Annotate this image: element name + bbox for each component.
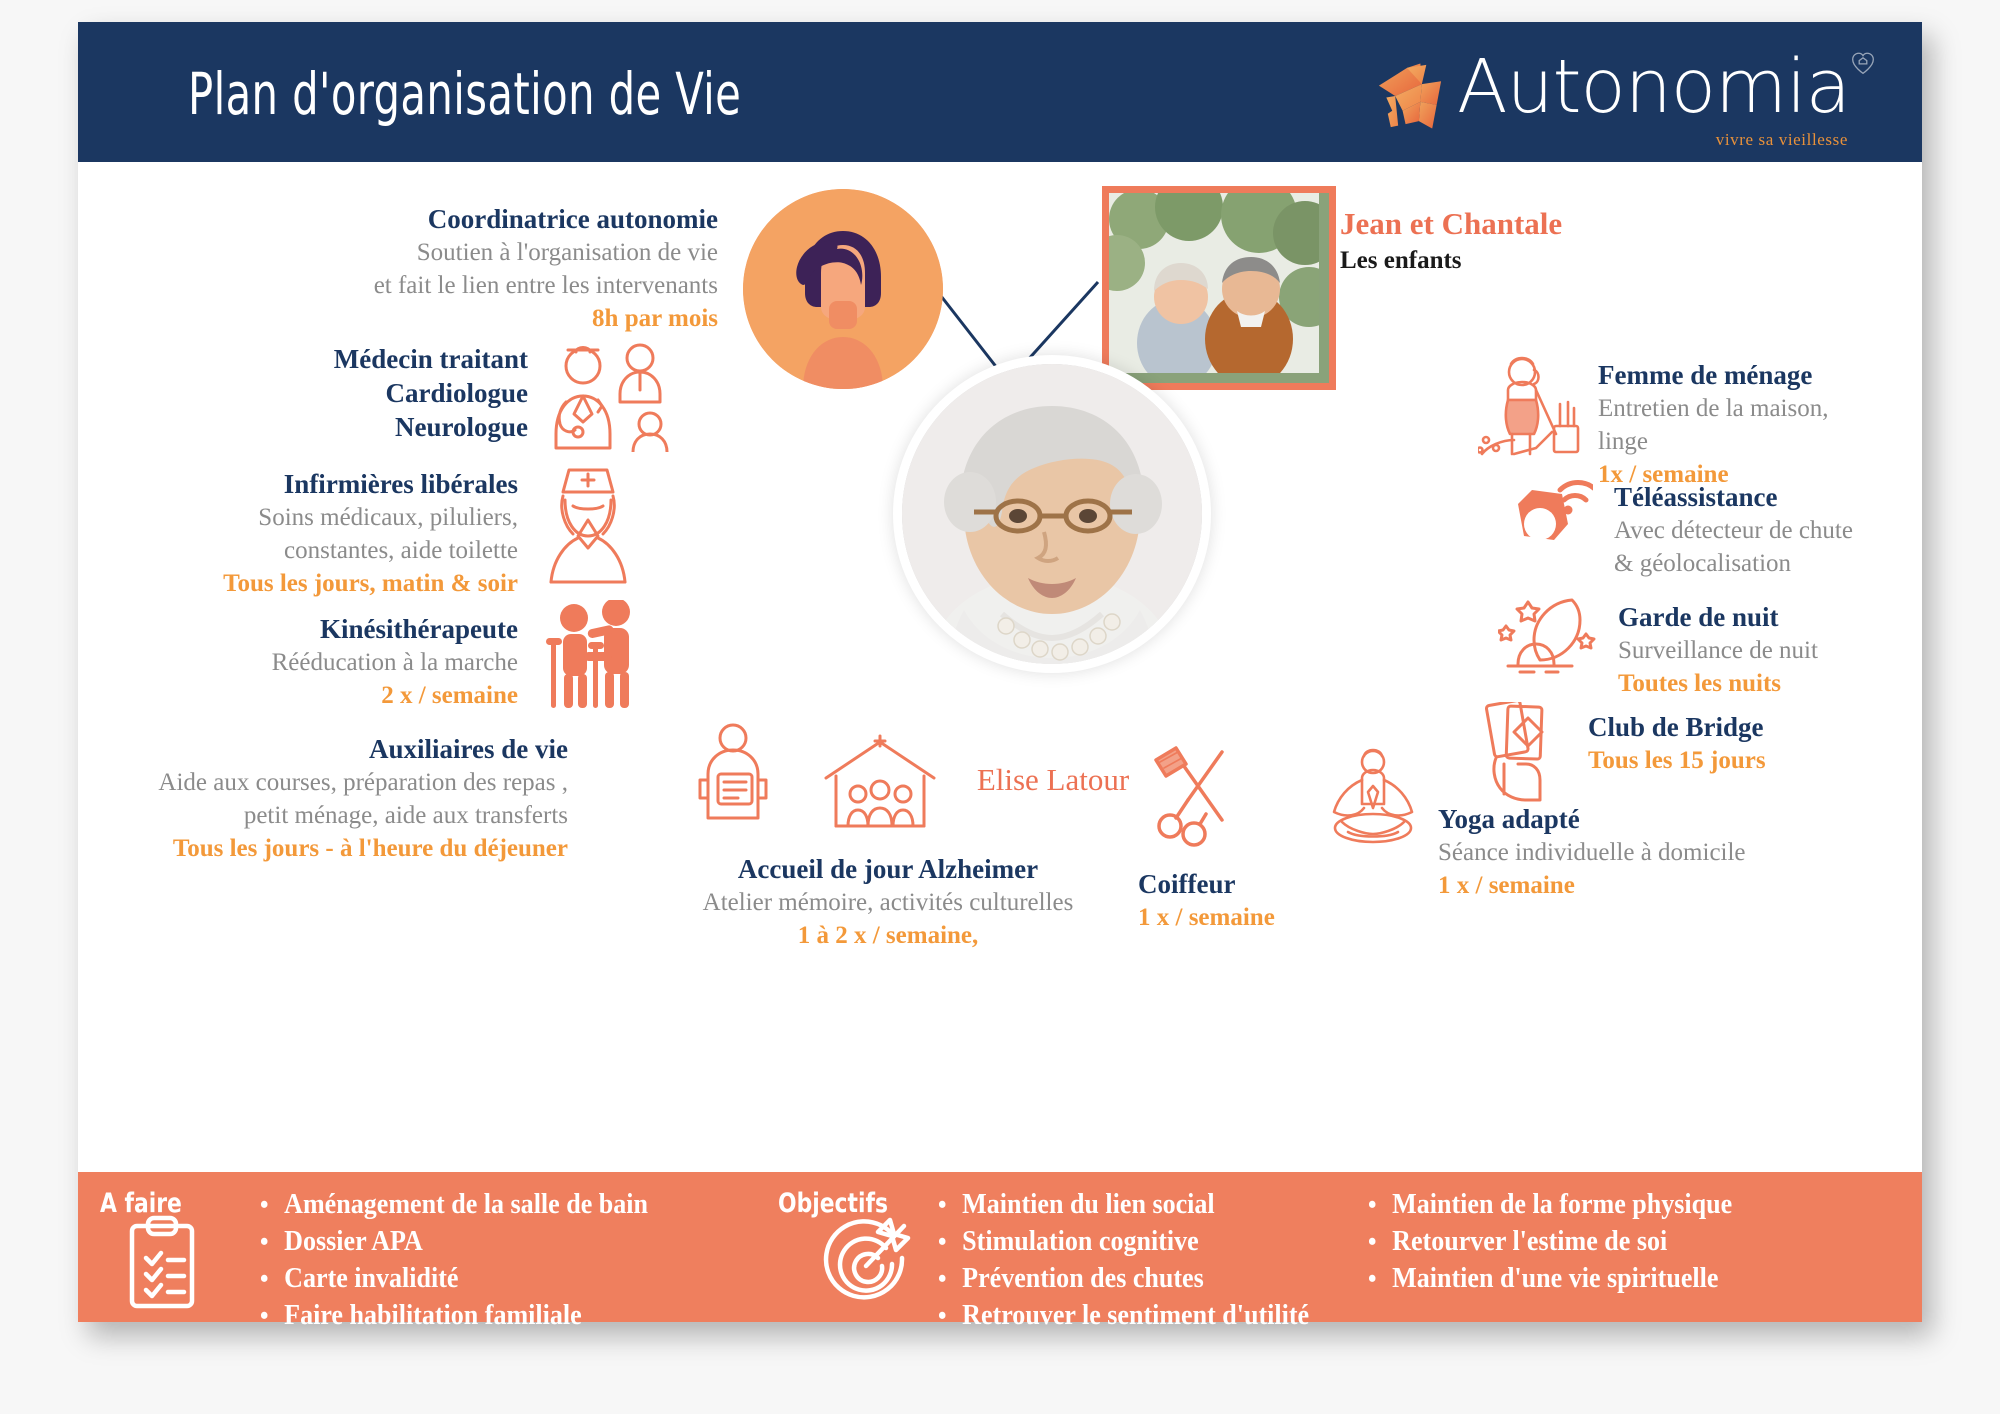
header-bar: Plan d'organisation de Vie <box>78 22 1922 162</box>
coordinator-desc-1: Soutien à l'organisation de vie <box>228 236 718 269</box>
plan-card: Plan d'organisation de Vie <box>78 22 1922 1322</box>
list-item: Maintien de la forme physique <box>1368 1186 1732 1223</box>
doctors-block: Médecin traitant Cardiologue Neurologue <box>198 342 528 444</box>
day-care-title: Accueil de jour Alzheimer <box>638 852 1138 886</box>
housekeeper-title: Femme de ménage <box>1598 358 1998 392</box>
doctors-title-2: Cardiologue <box>198 376 528 410</box>
hairdresser-frequency: 1 x / semaine <box>1138 901 1438 934</box>
list-item: Retrouver le sentiment d'utilité <box>938 1297 1309 1334</box>
scissors-comb-icon <box>1148 742 1258 852</box>
cleaning-lady-icon <box>1478 354 1583 464</box>
home-helpers-desc-2: petit ménage, aide aux transferts <box>118 799 568 832</box>
day-care-house-icon <box>818 732 943 837</box>
housekeeper-desc-2: linge <box>1598 425 1998 458</box>
coordinator-title: Coordinatrice autonomie <box>228 202 718 236</box>
bridge-club-title: Club de Bridge <box>1588 710 1988 744</box>
clipboard-checklist-icon <box>124 1214 200 1315</box>
coordinator-block: Coordinatrice autonomie Soutien à l'orga… <box>228 202 718 335</box>
day-care-block: Accueil de jour Alzheimer Atelier mémoir… <box>638 852 1138 952</box>
yoga-frequency: 1 x / semaine <box>1438 869 1858 902</box>
nurse-icon <box>533 462 643 584</box>
night-watch-block: Garde de nuit Surveillance de nuit Toute… <box>1618 600 2000 700</box>
physio-title: Kinésithérapeute <box>188 612 518 646</box>
physio-frequency: 2 x / semaine <box>188 679 518 712</box>
hairdresser-block: Coiffeur 1 x / semaine <box>1138 867 1438 934</box>
moon-stars-icon <box>1498 592 1608 684</box>
home-helpers-desc-1: Aide aux courses, préparation des repas … <box>118 766 568 799</box>
home-helpers-frequency: Tous les jours - à l'heure du déjeuner <box>118 832 568 865</box>
list-item: Maintien d'une vie spirituelle <box>1368 1260 1732 1297</box>
walking-aid-icon <box>538 600 650 710</box>
plan-body: Elise Latour Coordinatrice autonomie Sou… <box>78 162 1922 1172</box>
yoga-block: Yoga adapté Séance individuelle à domici… <box>1438 802 1858 902</box>
todo-list: Aménagement de la salle de bain Dossier … <box>260 1186 677 1334</box>
housekeeper-desc-1: Entretien de la maison, <box>1598 392 1998 425</box>
brand-tagline: vivre sa vieillesse <box>1716 130 1848 150</box>
home-helpers-block: Auxiliaires de vie Aide aux courses, pré… <box>118 732 568 865</box>
page-title: Plan d'organisation de Vie <box>188 60 741 128</box>
yoga-icon <box>1318 742 1428 852</box>
yoga-title: Yoga adapté <box>1438 802 1858 836</box>
nurses-desc-1: Soins médicaux, piluliers, <box>108 501 518 534</box>
bridge-club-frequency: Tous les 15 jours <box>1588 744 1988 777</box>
list-item: Aménagement de la salle de bain <box>260 1186 648 1223</box>
objectives-list-1: Maintien du lien social Stimulation cogn… <box>938 1186 1337 1334</box>
coordinator-avatar <box>743 189 943 389</box>
doctors-title-1: Médecin traitant <box>198 342 528 376</box>
list-item: Stimulation cognitive <box>938 1223 1309 1260</box>
nurses-desc-2: constantes, aide toilette <box>108 534 518 567</box>
night-watch-desc: Surveillance de nuit <box>1618 634 2000 667</box>
day-care-desc: Atelier mémoire, activités culturelles <box>638 886 1138 919</box>
children-photo <box>1102 186 1336 390</box>
children-names: Jean et Chantale <box>1340 204 1740 244</box>
list-item: Dossier APA <box>260 1223 648 1260</box>
housekeeper-block: Femme de ménage Entretien de la maison, … <box>1598 358 1998 491</box>
list-item: Prévention des chutes <box>938 1260 1309 1297</box>
center-person-photo <box>902 364 1202 664</box>
coordinator-desc-2: et fait le lien entre les intervenants <box>228 269 718 302</box>
children-block: Jean et Chantale Les enfants <box>1340 204 1740 278</box>
heart-house-icon <box>1850 50 1876 76</box>
telecare-watch-icon <box>1498 474 1593 564</box>
brand-logo: Autonomia vivre sa vieillesse <box>1373 46 1850 146</box>
caregiver-icon <box>688 722 778 832</box>
target-arrow-icon <box>820 1212 916 1313</box>
home-helpers-title: Auxiliaires de vie <box>118 732 568 766</box>
physio-desc: Rééducation à la marche <box>188 646 518 679</box>
nurses-frequency: Tous les jours, matin & soir <box>108 567 518 600</box>
telecare-desc-1: Avec détecteur de chute <box>1614 514 2000 547</box>
nurses-title: Infirmières libérales <box>108 467 518 501</box>
telecare-block: Téléassistance Avec détecteur de chute &… <box>1614 480 2000 580</box>
bridge-club-block: Club de Bridge Tous les 15 jours <box>1588 710 1988 777</box>
coordinator-frequency: 8h par mois <box>228 302 718 335</box>
doctors-title-3: Neurologue <box>198 410 528 444</box>
children-relation: Les enfants <box>1340 244 1740 278</box>
hairdresser-title: Coiffeur <box>1138 867 1438 901</box>
yoga-desc: Séance individuelle à domicile <box>1438 836 1858 869</box>
objectives-list-2: Maintien de la forme physique Retourver … <box>1368 1186 1760 1297</box>
list-item: Maintien du lien social <box>938 1186 1309 1223</box>
infographic-page: Plan d'organisation de Vie <box>0 0 2000 1414</box>
list-item: Carte invalidité <box>260 1260 648 1297</box>
nurses-block: Infirmières libérales Soins médicaux, pi… <box>108 467 518 600</box>
origami-elephant-icon <box>1373 58 1447 134</box>
bottom-band: A faire Aménagement de la salle de bain … <box>78 1172 1922 1322</box>
night-watch-frequency: Toutes les nuits <box>1618 667 2000 700</box>
day-care-frequency: 1 à 2 x / semaine, <box>638 919 1138 952</box>
brand-name: Autonomia <box>1457 44 1850 130</box>
list-item: Faire habilitation familiale <box>260 1297 648 1334</box>
physio-block: Kinésithérapeute Rééducation à la marche… <box>188 612 518 712</box>
doctors-icon <box>538 332 698 452</box>
telecare-title: Téléassistance <box>1614 480 2000 514</box>
list-item: Retourver l'estime de soi <box>1368 1223 1732 1260</box>
night-watch-title: Garde de nuit <box>1618 600 2000 634</box>
playing-cards-icon <box>1478 702 1583 807</box>
telecare-desc-2: & géolocalisation <box>1614 547 2000 580</box>
